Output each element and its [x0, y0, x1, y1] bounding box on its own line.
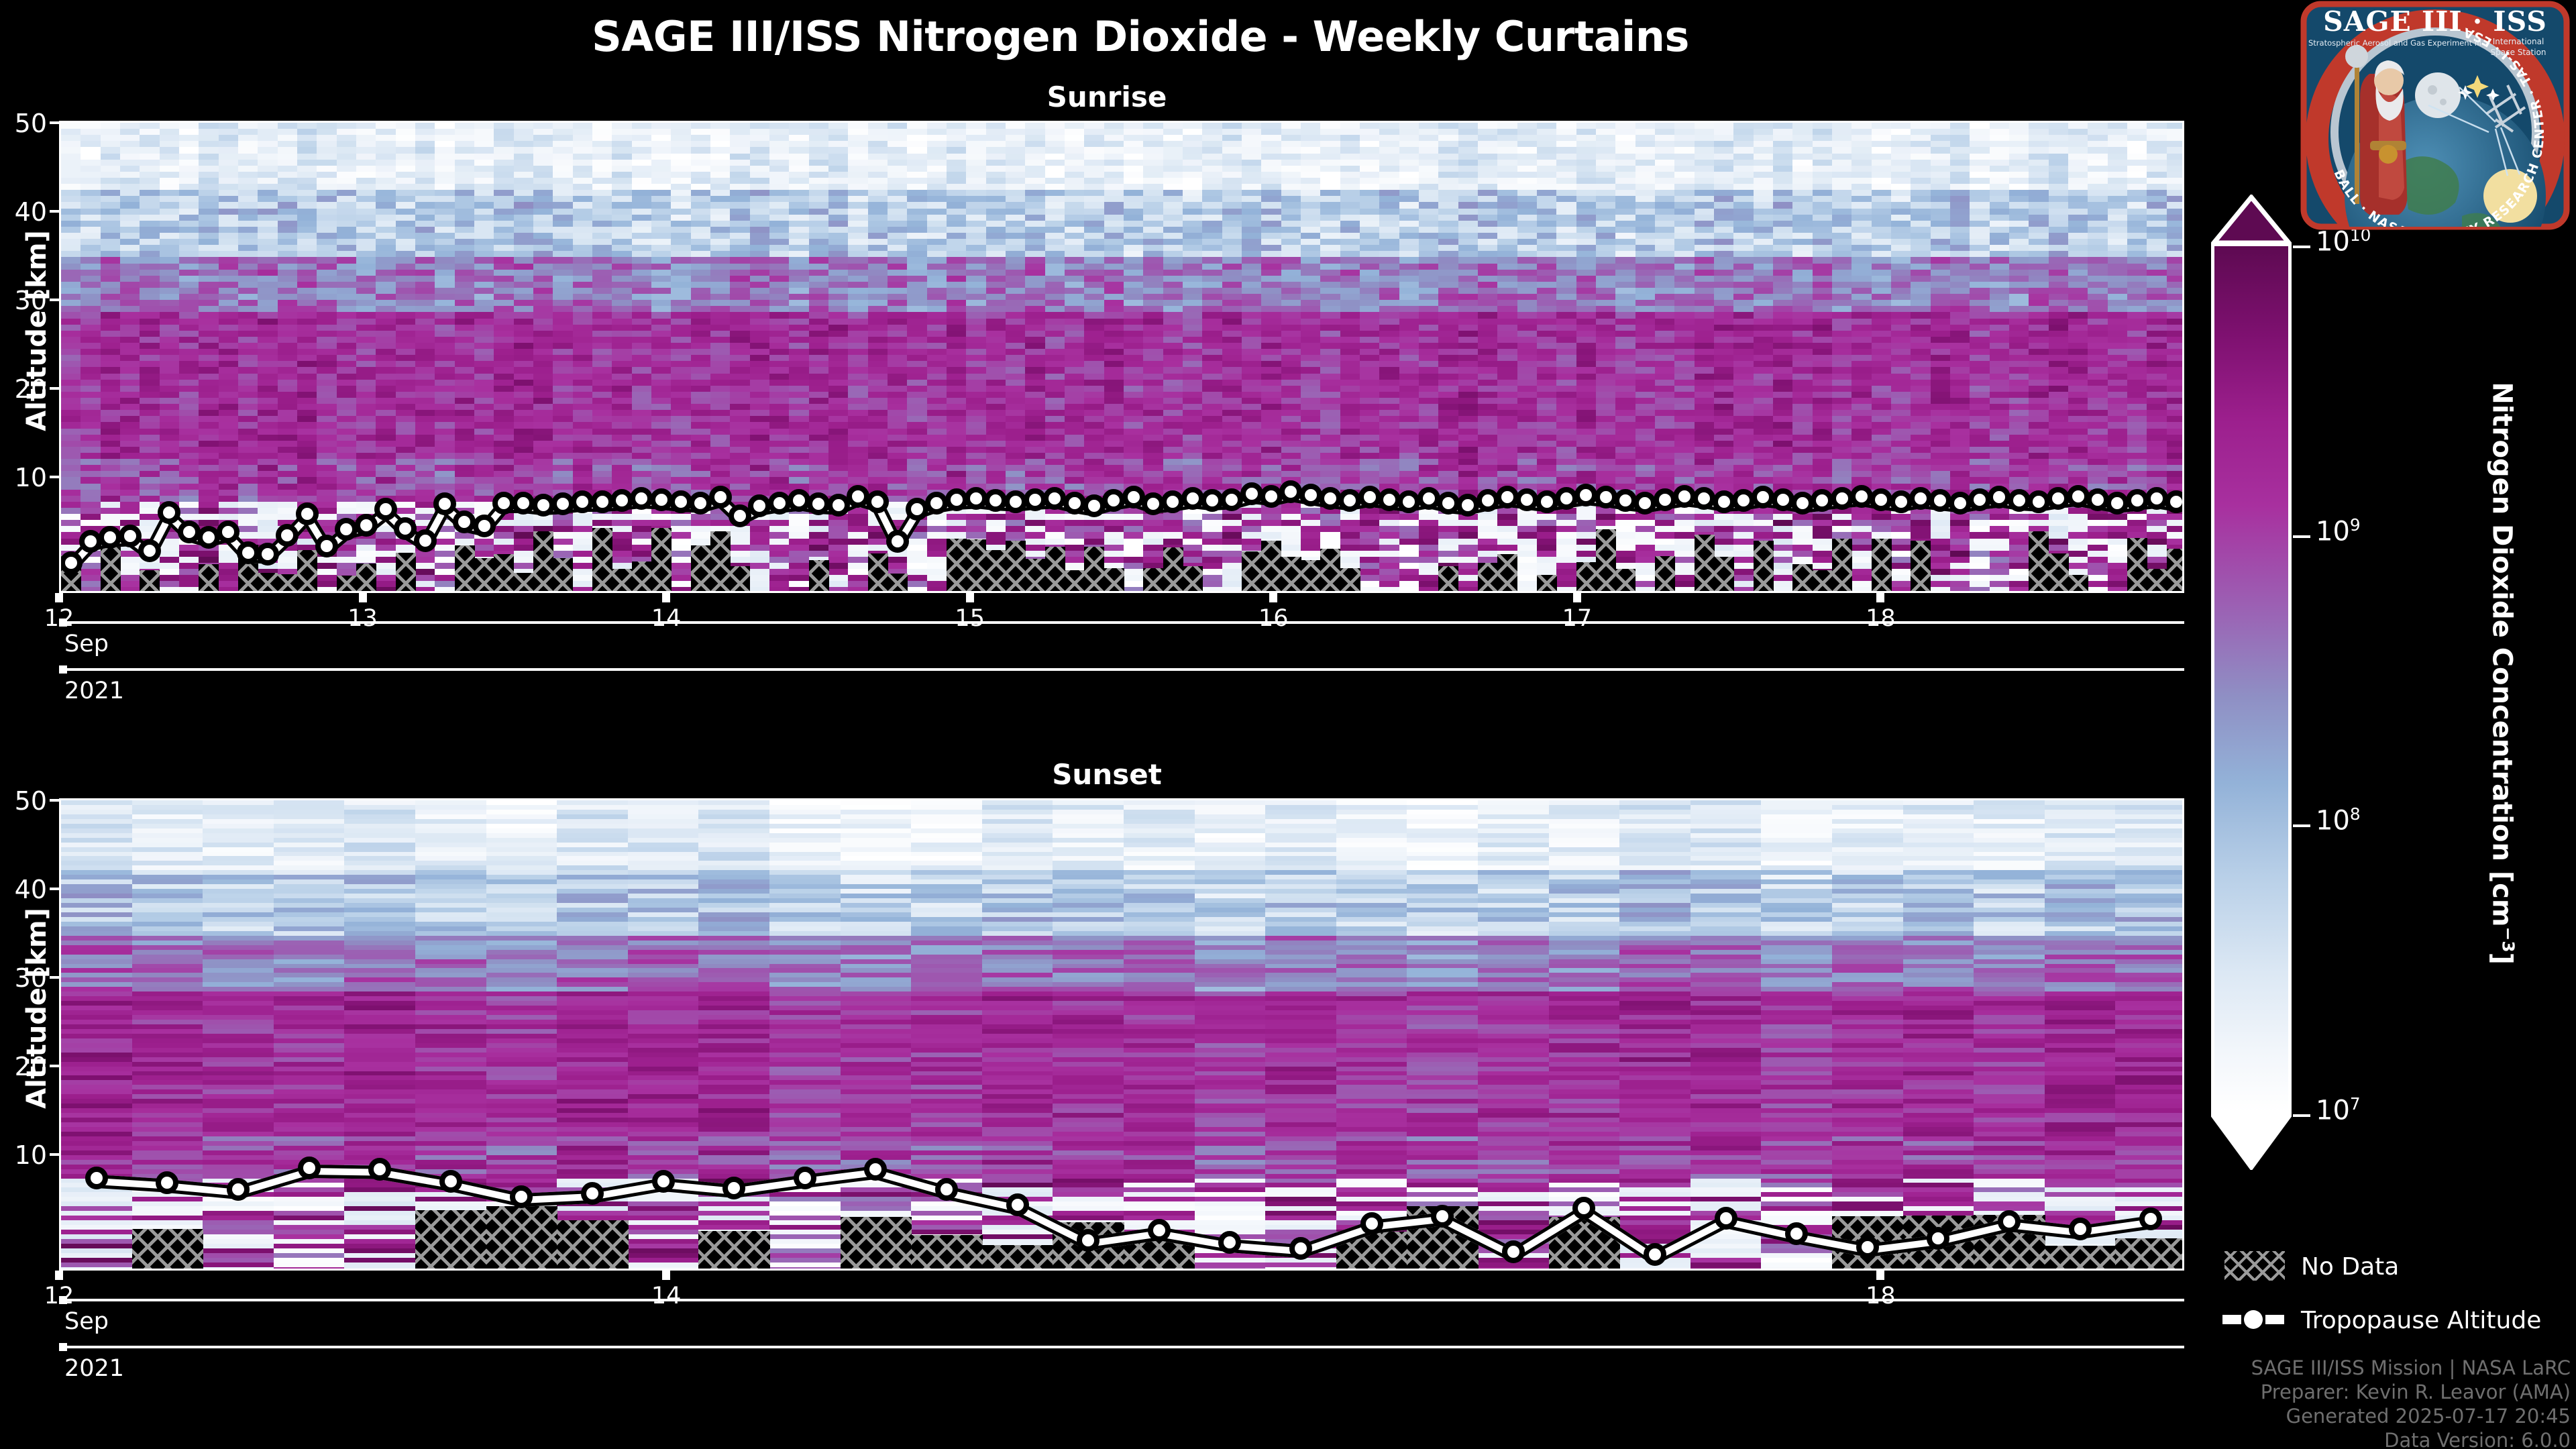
- y-tick-sunrise-30: 30: [0, 286, 47, 315]
- heatmap-panel-sunrise[interactable]: [59, 121, 2184, 593]
- y-tickmark: [50, 476, 59, 478]
- y-tick-sunrise-50: 50: [0, 109, 47, 138]
- figure-root: SAGE III/ISS Nitrogen Dioxide - Weekly C…: [0, 0, 2576, 1449]
- y-tick-sunrise-40: 40: [0, 197, 47, 227]
- y-tickmark: [50, 210, 59, 213]
- y-tick-sunrise-20: 20: [0, 374, 47, 404]
- y-tick-sunrise-10: 10: [0, 463, 47, 492]
- y-tickmark: [50, 121, 59, 124]
- y-tickmark: [50, 299, 59, 301]
- y-tickmark: [50, 387, 59, 390]
- page-title: SAGE III/ISS Nitrogen Dioxide - Weekly C…: [0, 12, 2281, 61]
- panel-subtitle-sunrise: Sunrise: [0, 80, 2214, 113]
